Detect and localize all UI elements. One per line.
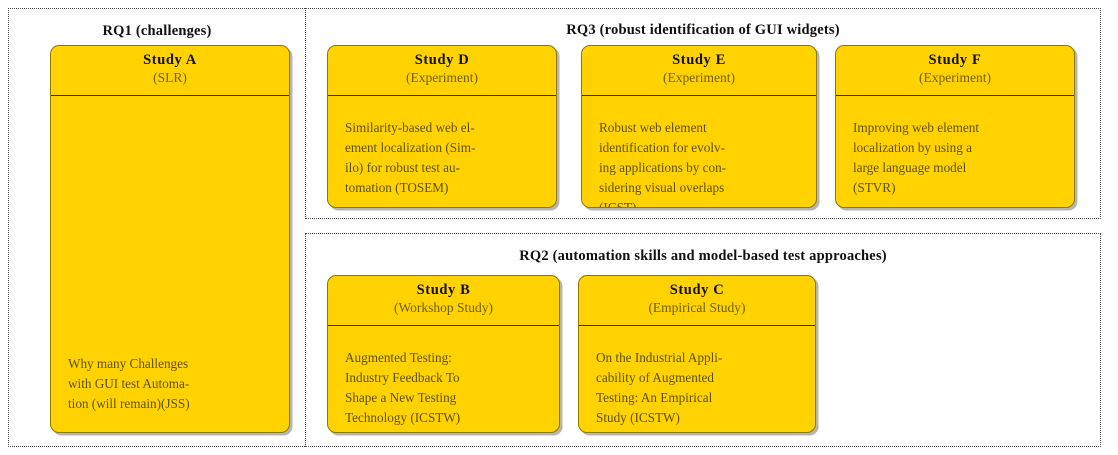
study-card-c-body: On the Industrial Appli- cability of Aug…	[579, 326, 815, 433]
study-card-d-body-line: ement localization (Sim-	[345, 138, 539, 158]
figure-canvas: RQ1 (challenges) RQ3 (robust identificat…	[0, 0, 1118, 455]
study-card-d[interactable]: Study D (Experiment) Similarity-based we…	[327, 45, 557, 208]
study-card-f-header: Study F (Experiment)	[836, 46, 1074, 96]
study-card-d-body-line: tomation (TOSEM)	[345, 178, 539, 198]
study-card-e-subtitle: (Experiment)	[588, 70, 810, 87]
region-rq2-title: RQ2 (automation skills and model-based t…	[306, 248, 1100, 265]
study-card-a-body-line: tion (will remain)(JSS)	[68, 394, 279, 414]
study-card-b-body: Augmented Testing: Industry Feedback To …	[328, 326, 559, 433]
study-card-a-body-text: Why many Challenges with GUI test Automa…	[68, 354, 279, 414]
study-card-e-header: Study E (Experiment)	[582, 46, 816, 96]
study-card-b-body-line: Shape a New Testing	[345, 388, 542, 408]
study-card-d-body: Similarity-based web el- ement localizat…	[328, 96, 556, 208]
study-card-c-body-line: Study (ICSTW)	[596, 408, 798, 428]
study-card-b-subtitle: (Workshop Study)	[334, 300, 553, 317]
study-card-f-body: Improving web element localization by us…	[836, 96, 1074, 208]
study-card-b-body-line: Technology (ICSTW)	[345, 408, 542, 428]
study-card-c-body-line: cability of Augmented	[596, 368, 798, 388]
study-card-f[interactable]: Study F (Experiment) Improving web eleme…	[835, 45, 1075, 208]
study-card-a-body-line: with GUI test Automa-	[68, 374, 279, 394]
study-card-b-body-line: Augmented Testing:	[345, 348, 542, 368]
study-card-d-body-line: ilo) for robust test au-	[345, 158, 539, 178]
study-card-b-title: Study B	[334, 283, 553, 298]
study-card-c-subtitle: (Empirical Study)	[585, 300, 809, 317]
region-rq1-title: RQ1 (challenges)	[9, 23, 305, 40]
region-rq3-title: RQ3 (robust identification of GUI widget…	[306, 22, 1100, 39]
study-card-f-body-line: large language model	[853, 158, 1057, 178]
study-card-d-body-line: Similarity-based web el-	[345, 118, 539, 138]
study-card-c-header: Study C (Empirical Study)	[579, 276, 815, 326]
study-card-f-body-line: Improving web element	[853, 118, 1057, 138]
study-card-e-title: Study E	[588, 53, 810, 68]
study-card-e[interactable]: Study E (Experiment) Robust web element …	[581, 45, 817, 208]
study-card-b[interactable]: Study B (Workshop Study) Augmented Testi…	[327, 275, 560, 433]
study-card-a-subtitle: (SLR)	[57, 70, 283, 87]
study-card-c-body-line: On the Industrial Appli-	[596, 348, 798, 368]
study-card-f-body-line: (STVR)	[853, 178, 1057, 198]
study-card-e-body-line: (ICST)	[599, 198, 799, 208]
study-card-e-body-line: sidering visual overlaps	[599, 178, 799, 198]
study-card-d-title: Study D	[334, 53, 550, 68]
study-card-b-header: Study B (Workshop Study)	[328, 276, 559, 326]
study-card-f-body-line: localization by using a	[853, 138, 1057, 158]
study-card-d-subtitle: (Experiment)	[334, 70, 550, 87]
study-card-d-header: Study D (Experiment)	[328, 46, 556, 96]
study-card-a-body: Why many Challenges with GUI test Automa…	[51, 96, 289, 432]
study-card-c-title: Study C	[585, 283, 809, 298]
study-card-a-header: Study A (SLR)	[51, 46, 289, 96]
study-card-e-body-line: Robust web element	[599, 118, 799, 138]
study-card-a-title: Study A	[57, 53, 283, 68]
study-card-e-body-line: identification for evolv-	[599, 138, 799, 158]
study-card-a[interactable]: Study A (SLR) Why many Challenges with G…	[50, 45, 290, 433]
study-card-f-title: Study F	[842, 53, 1068, 68]
study-card-c-body-line: Testing: An Empirical	[596, 388, 798, 408]
study-card-e-body: Robust web element identification for ev…	[582, 96, 816, 208]
study-card-c[interactable]: Study C (Empirical Study) On the Industr…	[578, 275, 816, 433]
study-card-a-body-line: Why many Challenges	[68, 354, 279, 374]
study-card-b-body-line: Industry Feedback To	[345, 368, 542, 388]
study-card-e-body-line: ing applications by con-	[599, 158, 799, 178]
study-card-f-subtitle: (Experiment)	[842, 70, 1068, 87]
